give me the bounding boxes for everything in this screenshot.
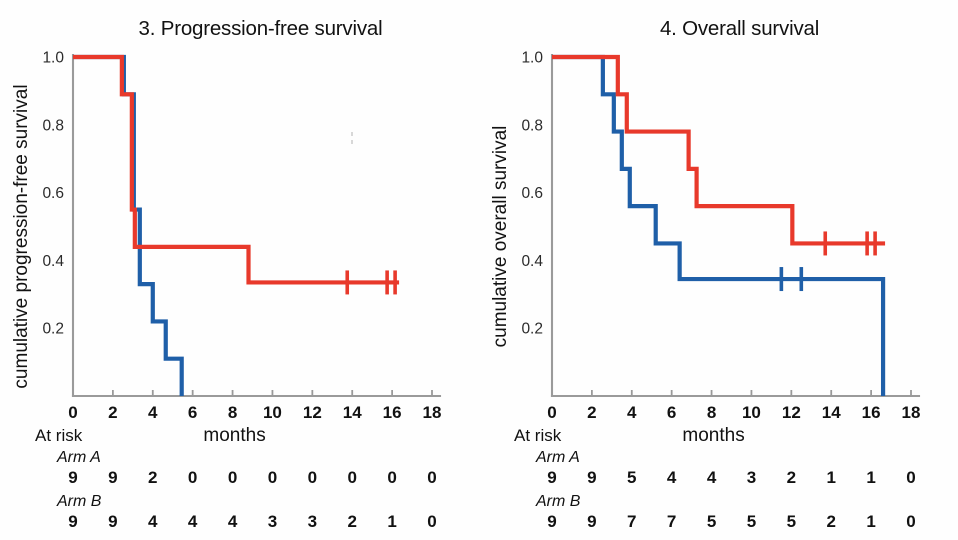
at-risk-count: 0 bbox=[308, 468, 317, 487]
x-tick-label: 4 bbox=[148, 403, 158, 422]
x-tick-label: 8 bbox=[707, 403, 716, 422]
y-tick-label: 0.6 bbox=[521, 185, 543, 202]
kaplan-meier-figure: 3. Progression-free survival0.20.40.60.8… bbox=[0, 0, 958, 540]
at-risk-count: 5 bbox=[787, 512, 796, 531]
x-axis-label: months bbox=[203, 425, 265, 446]
at-risk-count: 1 bbox=[387, 512, 396, 531]
panel-title: 3. Progression-free survival bbox=[139, 17, 383, 40]
x-tick-label: 16 bbox=[383, 403, 402, 422]
at-risk-count: 1 bbox=[866, 512, 875, 531]
x-tick-label: 18 bbox=[902, 403, 921, 422]
x-tick-label: 6 bbox=[667, 403, 676, 422]
scan-artifact bbox=[351, 132, 353, 136]
at-risk-count: 5 bbox=[747, 512, 756, 531]
x-tick-label: 12 bbox=[782, 403, 801, 422]
at-risk-count: 9 bbox=[587, 512, 596, 531]
at-risk-count: 1 bbox=[866, 468, 875, 487]
x-tick-label: 10 bbox=[263, 403, 282, 422]
y-tick-label: 0.4 bbox=[521, 253, 543, 270]
at-risk-count: 9 bbox=[108, 512, 117, 531]
x-tick-label: 8 bbox=[228, 403, 237, 422]
at-risk-header: At risk bbox=[35, 426, 83, 445]
at-risk-count: 4 bbox=[707, 468, 717, 487]
at-risk-count: 5 bbox=[707, 512, 716, 531]
x-axis-label: months bbox=[682, 425, 744, 446]
at-risk-count: 9 bbox=[547, 468, 556, 487]
y-tick-label: 1.0 bbox=[521, 50, 543, 67]
panel-progression-free-survival: 3. Progression-free survival0.20.40.60.8… bbox=[0, 0, 479, 540]
y-axis-label: cumulative overall survival bbox=[490, 126, 511, 348]
at-risk-count: 2 bbox=[787, 468, 796, 487]
at-risk-count: 3 bbox=[308, 512, 317, 531]
y-tick-label: 0.4 bbox=[42, 253, 64, 270]
x-tick-label: 2 bbox=[587, 403, 596, 422]
y-tick-label: 0.8 bbox=[42, 117, 64, 134]
at-risk-count: 0 bbox=[188, 468, 197, 487]
x-tick-label: 18 bbox=[423, 403, 442, 422]
x-tick-label: 2 bbox=[108, 403, 117, 422]
x-tick-label: 0 bbox=[547, 403, 556, 422]
at-risk-count: 2 bbox=[347, 512, 356, 531]
at-risk-count: 4 bbox=[188, 512, 198, 531]
pfs-chart-svg: 3. Progression-free survival0.20.40.60.8… bbox=[0, 0, 479, 540]
x-tick-label: 14 bbox=[822, 403, 841, 422]
at-risk-count: 0 bbox=[268, 468, 277, 487]
at-risk-count: 0 bbox=[228, 468, 237, 487]
km-curve-arm-b bbox=[73, 57, 399, 282]
panel-title: 4. Overall survival bbox=[660, 17, 819, 40]
y-tick-label: 0.8 bbox=[521, 117, 543, 134]
panel-overall-survival: 4. Overall survival0.20.40.60.81.0024681… bbox=[479, 0, 958, 540]
at-risk-row-label: Arm B bbox=[56, 493, 102, 510]
at-risk-count: 2 bbox=[148, 468, 157, 487]
x-tick-label: 10 bbox=[742, 403, 761, 422]
at-risk-count: 1 bbox=[826, 468, 835, 487]
at-risk-count: 0 bbox=[427, 512, 436, 531]
at-risk-row-label: Arm A bbox=[56, 449, 101, 466]
at-risk-count: 3 bbox=[747, 468, 756, 487]
at-risk-count: 4 bbox=[228, 512, 238, 531]
x-tick-label: 6 bbox=[188, 403, 197, 422]
at-risk-count: 9 bbox=[587, 468, 596, 487]
x-tick-label: 14 bbox=[343, 403, 362, 422]
at-risk-count: 4 bbox=[148, 512, 158, 531]
at-risk-count: 9 bbox=[108, 468, 117, 487]
km-curve-arm-a bbox=[552, 57, 883, 396]
at-risk-row-label: Arm A bbox=[535, 449, 580, 466]
at-risk-count: 0 bbox=[906, 512, 915, 531]
at-risk-count: 5 bbox=[627, 468, 636, 487]
at-risk-count: 3 bbox=[268, 512, 277, 531]
x-tick-label: 0 bbox=[68, 403, 77, 422]
at-risk-count: 9 bbox=[68, 512, 77, 531]
at-risk-count: 7 bbox=[667, 512, 676, 531]
y-tick-label: 1.0 bbox=[42, 50, 64, 67]
km-curve-arm-a bbox=[73, 57, 182, 396]
at-risk-count: 0 bbox=[387, 468, 396, 487]
x-tick-label: 12 bbox=[303, 403, 322, 422]
y-tick-label: 0.6 bbox=[42, 185, 64, 202]
y-tick-label: 0.2 bbox=[521, 321, 543, 338]
y-tick-label: 0.2 bbox=[42, 321, 64, 338]
scan-artifact bbox=[351, 140, 353, 144]
at-risk-count: 9 bbox=[68, 468, 77, 487]
at-risk-count: 0 bbox=[347, 468, 356, 487]
at-risk-count: 9 bbox=[547, 512, 556, 531]
at-risk-count: 2 bbox=[826, 512, 835, 531]
x-tick-label: 16 bbox=[862, 403, 881, 422]
at-risk-header: At risk bbox=[514, 426, 562, 445]
y-axis-label: cumulative progression-free survival bbox=[11, 84, 32, 388]
at-risk-row-label: Arm B bbox=[535, 493, 581, 510]
at-risk-count: 0 bbox=[427, 468, 436, 487]
x-tick-label: 4 bbox=[627, 403, 637, 422]
at-risk-count: 0 bbox=[906, 468, 915, 487]
at-risk-count: 7 bbox=[627, 512, 636, 531]
at-risk-count: 4 bbox=[667, 468, 677, 487]
os-chart-svg: 4. Overall survival0.20.40.60.81.0024681… bbox=[479, 0, 958, 540]
